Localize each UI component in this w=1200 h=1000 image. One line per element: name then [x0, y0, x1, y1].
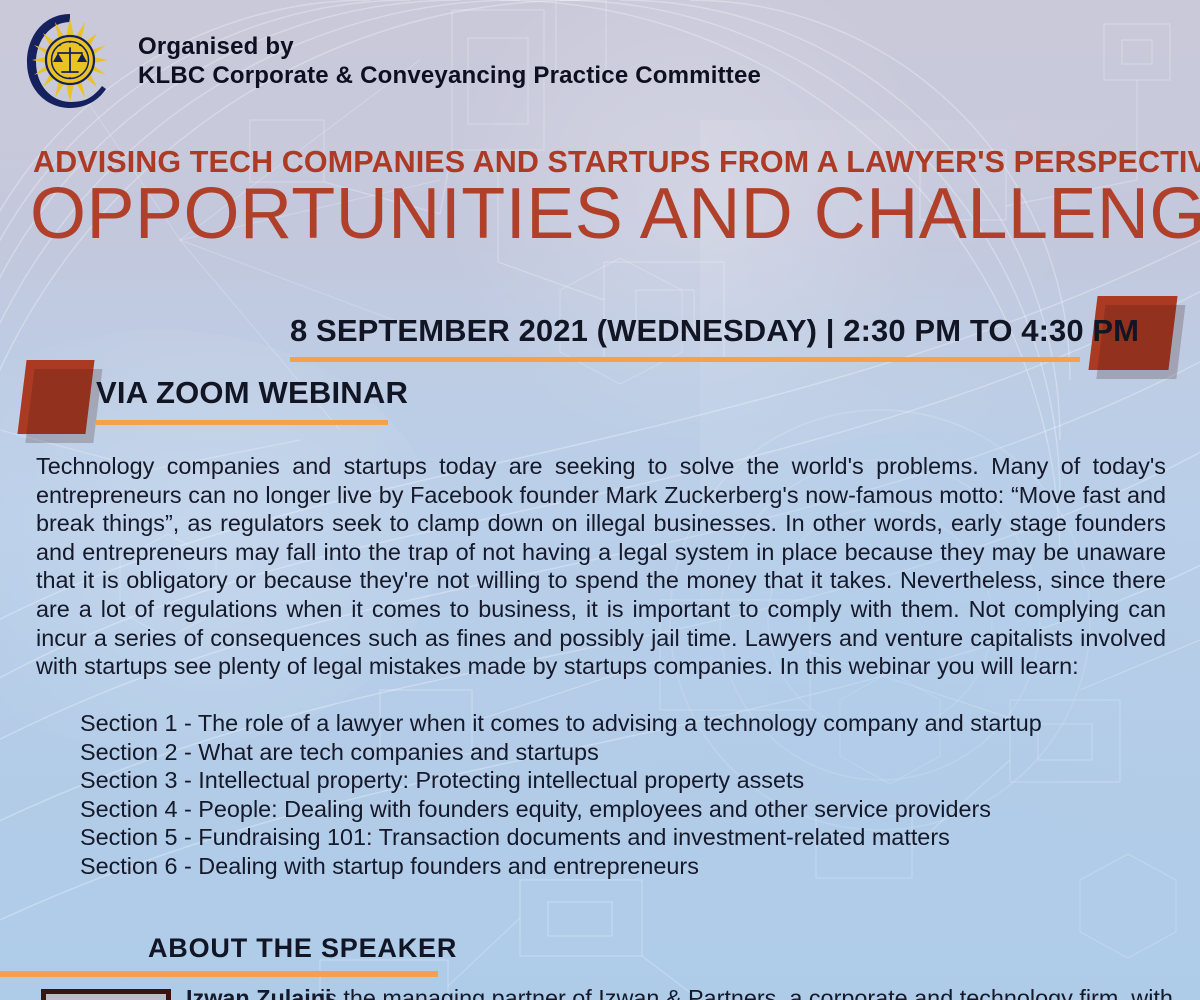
- organiser-name: KLBC Corporate & Conveyancing Practice C…: [138, 61, 761, 90]
- list-item: Section 3 - Intellectual property: Prote…: [80, 766, 1160, 795]
- section-list: Section 1 - The role of a lawyer when it…: [80, 709, 1160, 881]
- list-item: Section 4 - People: Dealing with founder…: [80, 795, 1160, 824]
- list-item: Section 5 - Fundraising 101: Transaction…: [80, 823, 1160, 852]
- poster-header: Organised by KLBC Corporate & Conveyanci…: [24, 12, 761, 110]
- decor-parallelogram-left: [17, 360, 94, 434]
- about-speaker-heading: ABOUT THE SPEAKER: [148, 933, 457, 964]
- list-item: Section 1 - The role of a lawyer when it…: [80, 709, 1160, 738]
- klbc-malaysian-bar-logo-icon: [24, 12, 116, 110]
- about-speaker-underline: [0, 971, 438, 977]
- event-datetime: 8 SEPTEMBER 2021 (WEDNESDAY) | 2:30 PM T…: [290, 313, 1080, 349]
- list-item: Section 2 - What are tech companies and …: [80, 738, 1160, 767]
- event-venue-block: VIA ZOOM WEBINAR: [96, 375, 396, 425]
- speaker-name: Izwan Zulaini: [186, 985, 332, 1000]
- webinar-poster: Organised by KLBC Corporate & Conveyanci…: [0, 0, 1200, 1000]
- speaker-bio: is the managing partner of Izwan & Partn…: [320, 985, 1180, 1000]
- datetime-underline: [290, 357, 1080, 362]
- body-paragraph: Technology companies and startups today …: [36, 452, 1166, 681]
- speaker-photo: [41, 989, 171, 1000]
- list-item: Section 6 - Dealing with startup founder…: [80, 852, 1160, 881]
- poster-title: OPPORTUNITIES AND CHALLENGES: [30, 178, 1180, 251]
- venue-underline: [96, 420, 388, 425]
- organised-by-label: Organised by: [138, 32, 761, 61]
- event-venue: VIA ZOOM WEBINAR: [96, 375, 396, 411]
- organiser-block: Organised by KLBC Corporate & Conveyanci…: [138, 32, 761, 91]
- event-datetime-block: 8 SEPTEMBER 2021 (WEDNESDAY) | 2:30 PM T…: [290, 313, 1080, 362]
